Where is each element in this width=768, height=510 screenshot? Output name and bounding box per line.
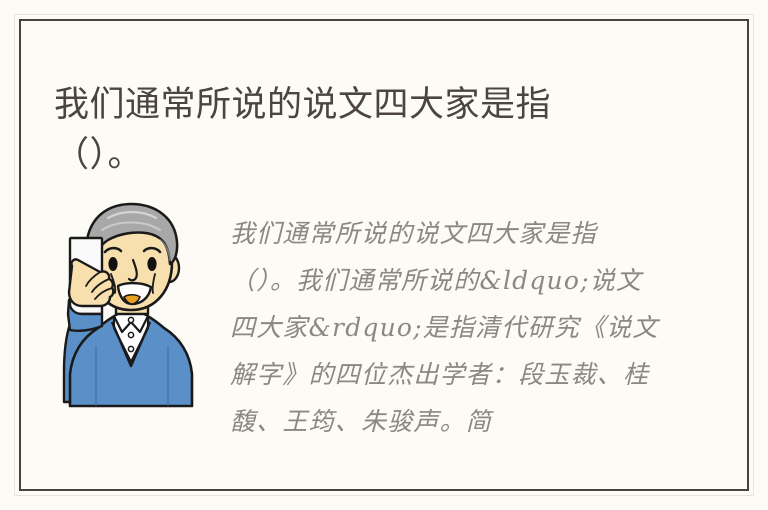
page-root: 我们通常所说的说文四大家是指 （）。 [0, 0, 768, 510]
page-title: 我们通常所说的说文四大家是指 （）。 [54, 81, 654, 180]
article-content: 我们通常所说的说文四大家是指（）。我们通常所说的&ldquo;说文四大家&rdq… [38, 196, 730, 446]
article-body-text: 我们通常所说的说文四大家是指（）。我们通常所说的&ldquo;说文四大家&rdq… [230, 210, 662, 445]
elderly-man-holding-card-illustration [56, 196, 206, 420]
